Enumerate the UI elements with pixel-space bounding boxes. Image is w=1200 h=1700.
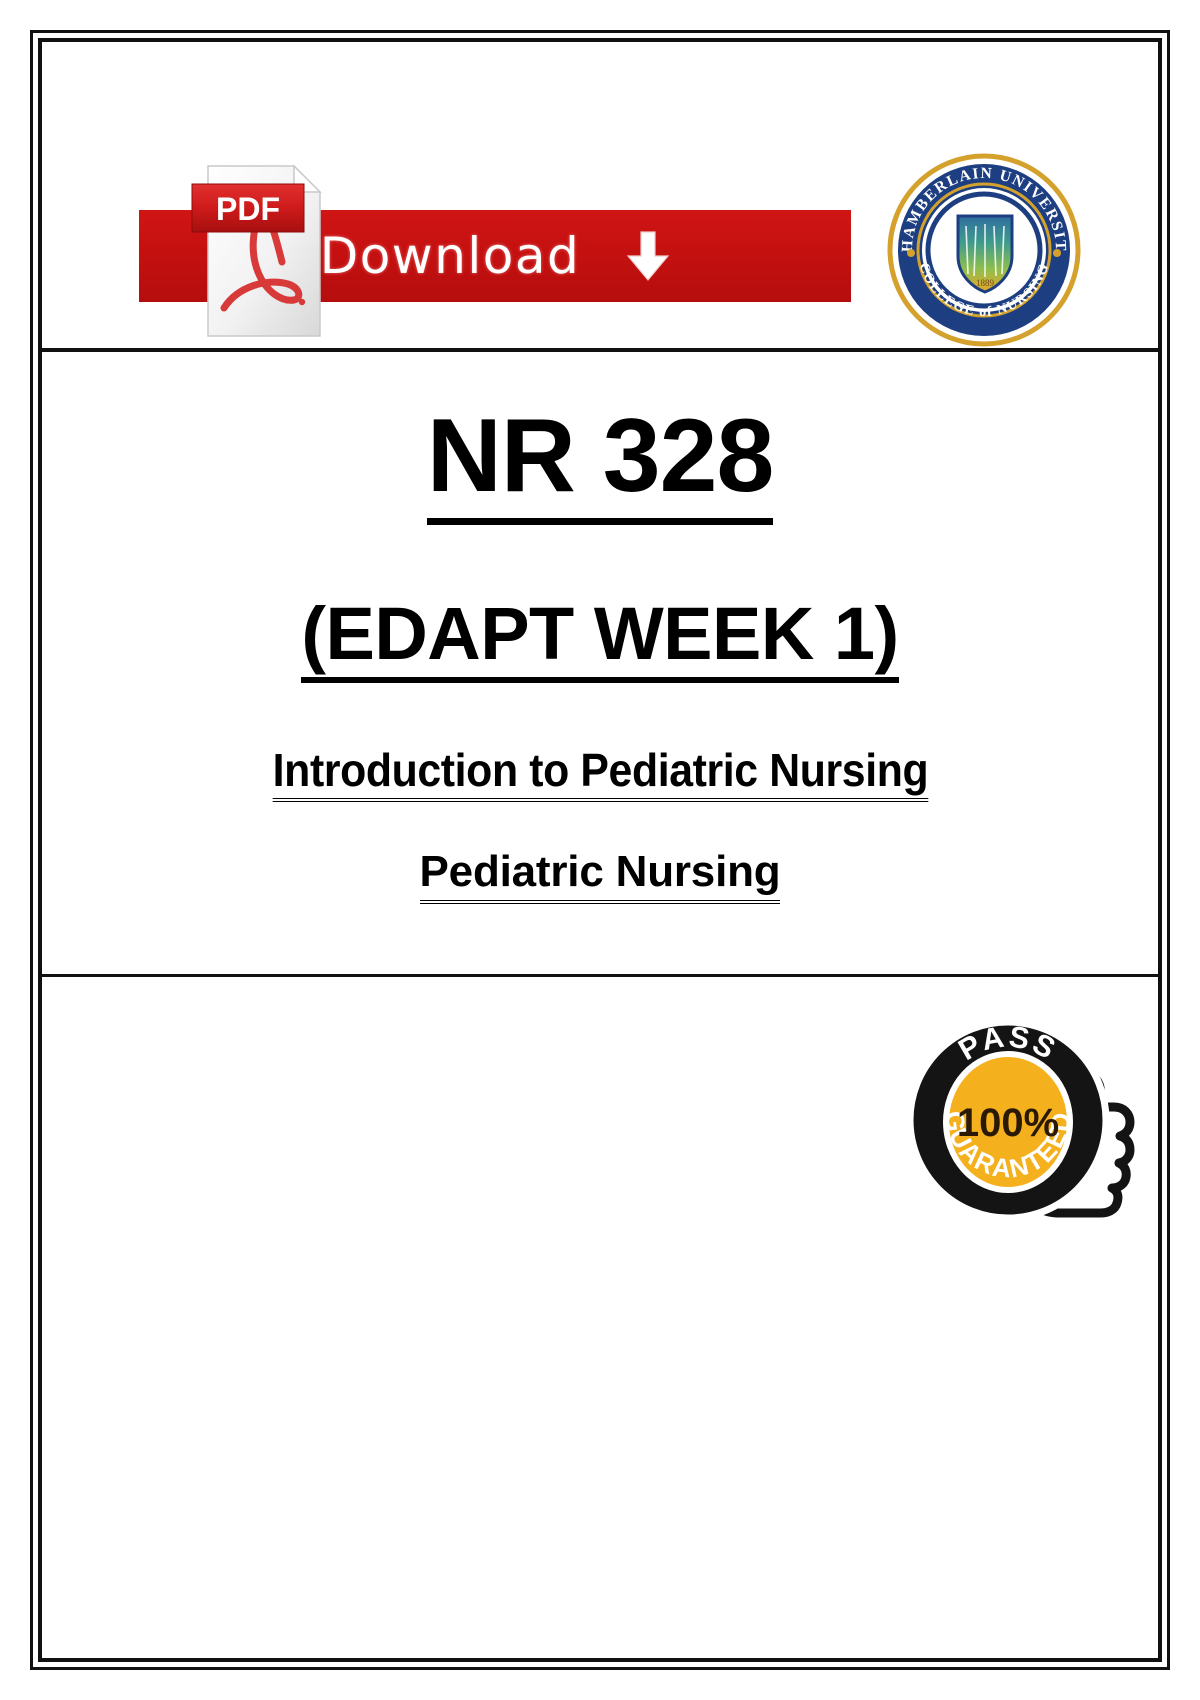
topic-title: Pediatric Nursing (420, 848, 781, 903)
pdf-file-icon: PDF (190, 160, 330, 342)
module-title: Introduction to Pediatric Nursing (272, 745, 928, 803)
page-title-course-code: NR 328 (427, 398, 774, 525)
document-page-frame-inner: Download (38, 38, 1162, 1662)
badge-center-text: 100% (957, 1101, 1059, 1145)
seal-shield-year: 1889 (976, 278, 995, 288)
page-subtitle-week: (EDAPT WEEK 1) (301, 593, 898, 682)
title-band: NR 328 (EDAPT WEEK 1) Introduction to Pe… (42, 352, 1158, 977)
document-page-frame-outer: Download (30, 30, 1170, 1670)
pass-100-guaranteed-badge: PASS GUARANTEED 100% (890, 995, 1140, 1245)
body-band: PASS GUARANTEED 100% (42, 977, 1158, 1658)
seal-shield-icon: 1889 (958, 216, 1012, 292)
download-arrow-icon (626, 230, 670, 282)
chamberlain-university-seal: CHAMBERLAIN UNIVERSITY COLLEGE of NURSIN… (884, 150, 1084, 350)
download-label: Download (320, 227, 581, 285)
pdf-icon-label: PDF (216, 191, 280, 227)
header-band: Download (42, 42, 1158, 352)
